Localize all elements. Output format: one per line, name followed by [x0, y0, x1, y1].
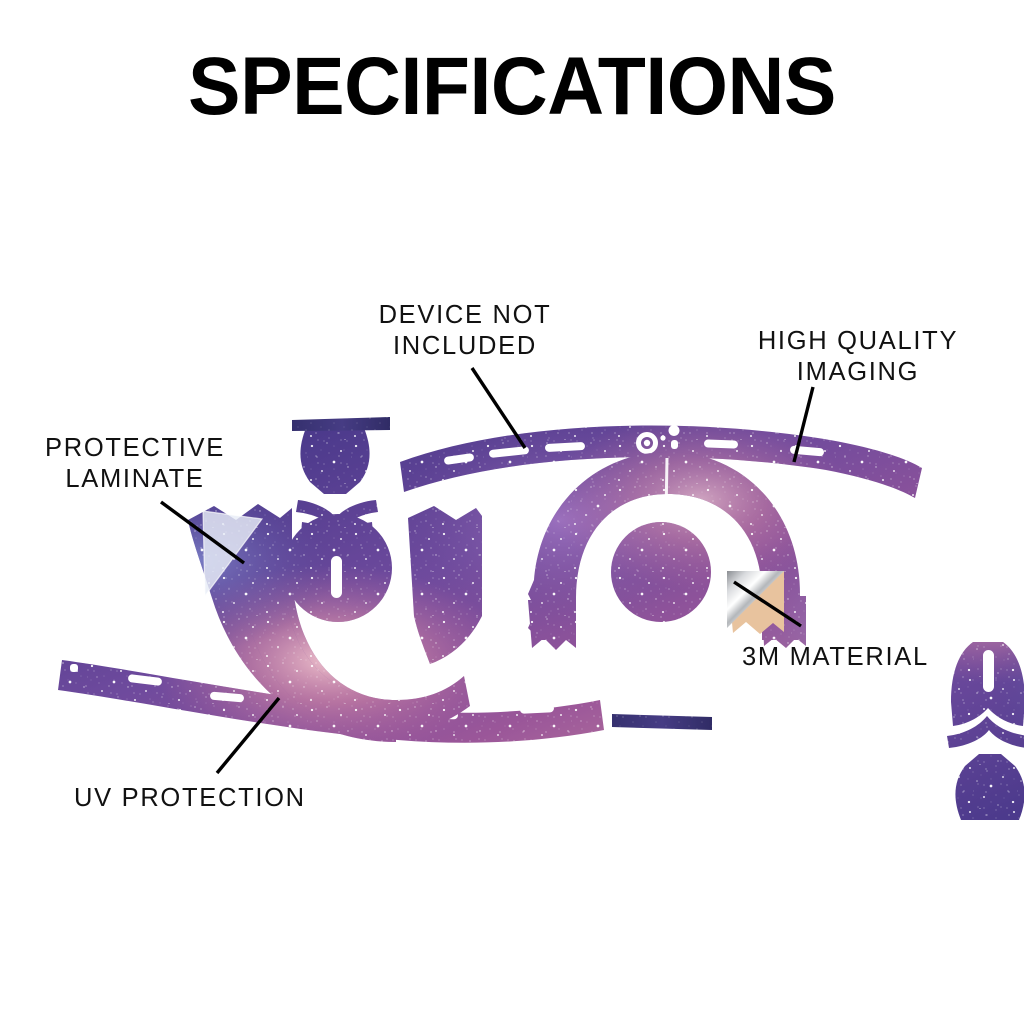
top-strap-slot	[331, 556, 342, 598]
leader-uv-protection	[217, 698, 279, 773]
decal-artwork-svg	[0, 0, 1024, 1024]
bottom-band-cutouts	[70, 664, 554, 719]
piece-bottom-bar	[610, 710, 714, 732]
leader-device-not-included	[472, 368, 525, 448]
decal-artwork	[0, 0, 1024, 1024]
callout-uv-protection: UV PROTECTION	[74, 783, 344, 814]
callout-device-not-included: DEVICE NOT INCLUDED	[352, 300, 578, 362]
page-title: SPECIFICATIONS	[20, 44, 1003, 130]
callout-protective-laminate: PROTECTIVE LAMINATE	[26, 433, 244, 495]
top-band-cutouts	[444, 425, 825, 465]
leader-lines	[161, 368, 813, 773]
material-peel-corner	[727, 571, 784, 634]
callout-3m-material: 3M MATERIAL	[742, 642, 986, 673]
right-seam-line	[666, 458, 667, 516]
specifications-graphic: SPECIFICATIONS	[0, 0, 1024, 1024]
leader-3m-material	[734, 582, 801, 626]
piece-top-bar	[292, 414, 392, 434]
leader-protective-laminate	[161, 502, 244, 563]
laminate-peel-corner	[203, 511, 262, 596]
leader-high-quality-imaging	[794, 387, 813, 462]
callout-high-quality-imaging: HIGH QUALITY IMAGING	[742, 326, 974, 388]
left-seam-line	[348, 624, 350, 664]
